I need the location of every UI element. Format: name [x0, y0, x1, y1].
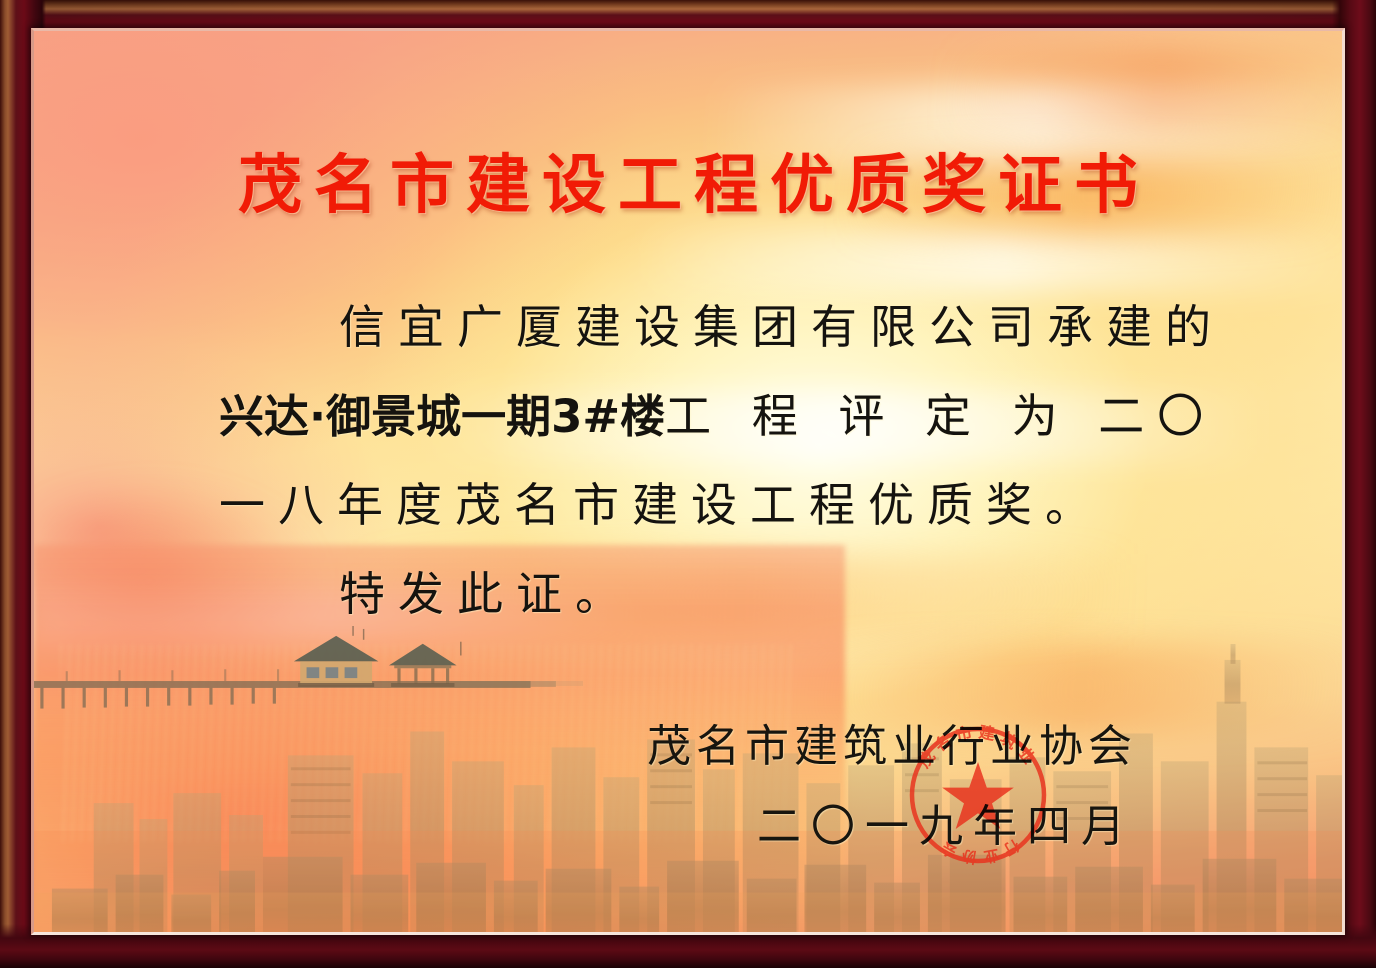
certificate-body: 信宜广厦建设集团有限公司承建的 兴达·御景城一期3#楼工 程 评 定 为 二〇 …: [219, 283, 1229, 639]
body-line-1: 信宜广厦建设集团有限公司承建的: [219, 283, 1229, 372]
certificate-plaque-frame: 茂名市建设工程优质奖证书 信宜广厦建设集团有限公司承建的 兴达·御景城一期3#楼…: [0, 0, 1376, 968]
body-line-4: 特发此证。: [219, 550, 1229, 639]
certificate-content: 茂名市建设工程优质奖证书 信宜广厦建设集团有限公司承建的 兴达·御景城一期3#楼…: [34, 31, 1342, 932]
certificate-inner-bevel: 茂名市建设工程优质奖证书 信宜广厦建设集团有限公司承建的 兴达·御景城一期3#楼…: [31, 28, 1345, 935]
body-line-3: 一八年度茂名市建设工程优质奖。: [219, 461, 1229, 550]
project-name: 兴达·御景城一期3#楼: [219, 390, 665, 443]
certificate-title: 茂名市建设工程优质奖证书: [34, 149, 1342, 223]
certificate-signature-block: 茂名市建筑业行业协会 二〇一九年四月: [647, 707, 1137, 867]
body-line-3-text: 一八年度茂名市建设工程优质奖。: [219, 478, 1104, 532]
body-line-2: 兴达·御景城一期3#楼工 程 评 定 为 二〇: [219, 372, 1229, 461]
issuer-name: 茂名市建筑业行业协会: [647, 707, 1137, 787]
body-line-2-rest: 工 程 评 定 为 二〇: [665, 389, 1216, 443]
issue-date: 二〇一九年四月: [647, 787, 1137, 867]
body-line-4-text: 特发此证。: [339, 567, 634, 621]
body-line-1-text: 信宜广厦建设集团有限公司承建的: [339, 300, 1224, 354]
